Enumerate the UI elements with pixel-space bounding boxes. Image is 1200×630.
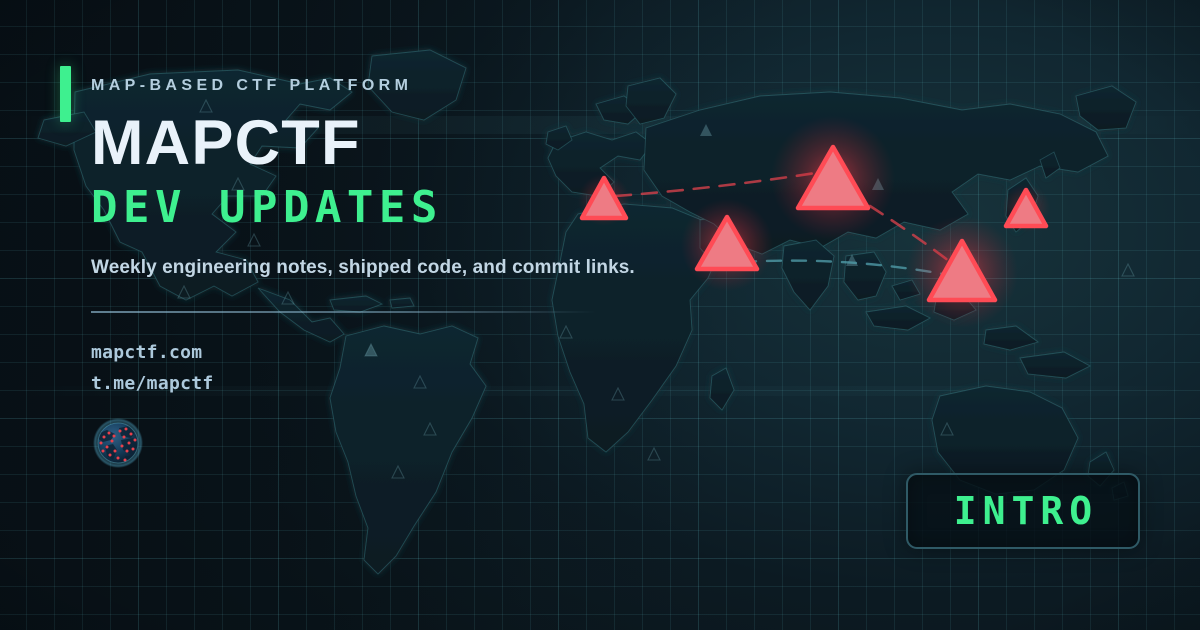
link-website[interactable]: mapctf.com	[91, 337, 680, 369]
eyebrow-label: MAP-BASED CTF PLATFORM	[91, 60, 680, 94]
intro-badge[interactable]: INTRO	[906, 473, 1140, 549]
content-column: MAP-BASED CTF PLATFORM MAPCTF DEV UPDATE…	[60, 60, 680, 470]
globe-icon	[91, 416, 145, 470]
intro-badge-label: INTRO	[948, 489, 1098, 533]
page-title: MAPCTF	[91, 110, 680, 176]
tagline: Weekly engineering notes, shipped code, …	[91, 257, 680, 279]
social-card-poster: MAP-BASED CTF PLATFORM MAPCTF DEV UPDATE…	[0, 0, 1200, 630]
link-telegram[interactable]: t.me/mapctf	[91, 368, 680, 400]
divider	[91, 311, 596, 313]
accent-bar	[60, 66, 71, 122]
link-list: mapctf.com t.me/mapctf	[91, 337, 680, 400]
page-subtitle: DEV UPDATES	[91, 184, 680, 232]
